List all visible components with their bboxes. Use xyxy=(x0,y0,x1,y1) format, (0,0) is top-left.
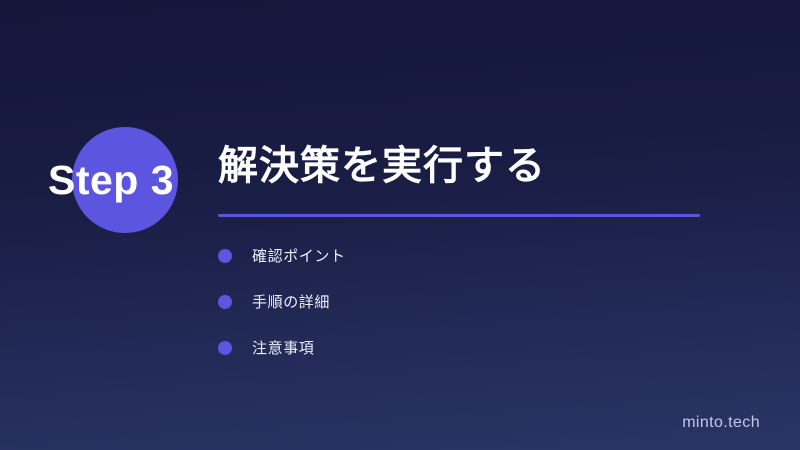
bullet-item-label: 注意事項 xyxy=(252,341,314,356)
footer-brand: minto.tech xyxy=(682,414,760,432)
bullet-item-label: 手順の詳細 xyxy=(252,295,330,310)
list-item: 確認ポイント xyxy=(218,233,718,279)
bullet-dot-icon xyxy=(218,295,232,309)
bullet-list: 確認ポイント 手順の詳細 注意事項 xyxy=(218,233,718,371)
bullet-item-label: 確認ポイント xyxy=(252,249,346,264)
slide-title: 解決策を実行する xyxy=(218,140,718,192)
bullet-dot-icon xyxy=(218,341,232,355)
list-item: 手順の詳細 xyxy=(218,279,718,325)
presentation-slide: Step 3 解決策を実行する 確認ポイント 手順の詳細 注意事項 minto.… xyxy=(0,0,800,450)
step-label: Step 3 xyxy=(0,127,210,233)
step-badge: Step 3 xyxy=(0,127,210,233)
list-item: 注意事項 xyxy=(218,325,718,371)
bullet-dot-icon xyxy=(218,249,232,263)
slide-content: 解決策を実行する 確認ポイント 手順の詳細 注意事項 xyxy=(218,140,718,371)
title-divider xyxy=(218,214,700,217)
